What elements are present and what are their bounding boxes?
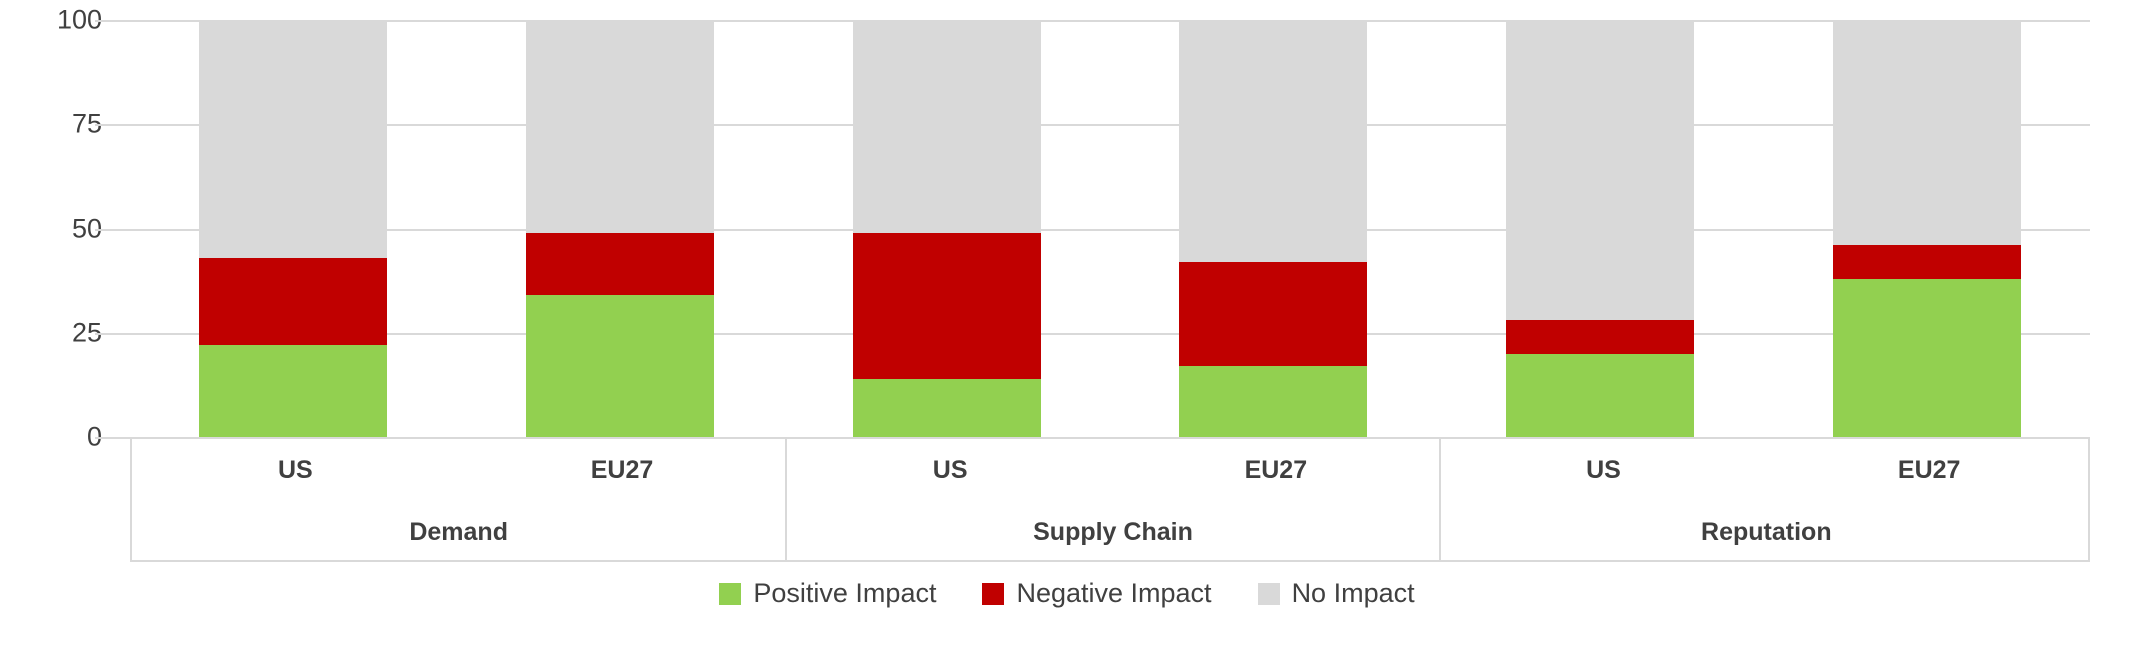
category-sublabel-row: USEU27: [1441, 439, 2092, 501]
bar-column[interactable]: [853, 20, 1041, 437]
x-axis-category-label: EU27: [1766, 439, 2092, 501]
category-group: USEU27Reputation: [1439, 439, 2092, 560]
stacked-bar[interactable]: [199, 20, 387, 437]
legend-swatch-icon: [719, 583, 741, 605]
category-sublabel-row: USEU27: [787, 439, 1438, 501]
x-axis-group-label-row: Reputation: [1441, 501, 2092, 564]
chart-legend: Positive ImpactNegative ImpactNo Impact: [0, 578, 2134, 609]
x-axis-category-label: US: [787, 439, 1113, 501]
stacked-bar[interactable]: [1179, 20, 1367, 437]
bar-segment-no-impact[interactable]: [1179, 20, 1367, 262]
legend-item[interactable]: Negative Impact: [982, 578, 1211, 609]
x-axis-group-label: Demand: [409, 518, 508, 547]
x-axis-group-label-row: Demand: [132, 501, 785, 564]
category-group: USEU27Demand: [132, 439, 785, 560]
bar-segment-positive-impact[interactable]: [1179, 366, 1367, 437]
bar-column[interactable]: [526, 20, 714, 437]
bar-segment-no-impact[interactable]: [1833, 20, 2021, 245]
bar-segment-negative-impact[interactable]: [1179, 262, 1367, 366]
plot-area: [130, 20, 2090, 437]
y-axis-tick-mark: [95, 333, 130, 335]
bar-segment-negative-impact[interactable]: [1833, 245, 2021, 278]
x-axis-category-label: EU27: [459, 439, 786, 501]
bar-column[interactable]: [199, 20, 387, 437]
bar-column[interactable]: [1506, 20, 1694, 437]
legend-item[interactable]: No Impact: [1258, 578, 1415, 609]
bar-segment-negative-impact[interactable]: [853, 233, 1041, 379]
bar-column[interactable]: [1179, 20, 1367, 437]
bar-segment-positive-impact[interactable]: [1506, 354, 1694, 437]
bar-segment-no-impact[interactable]: [853, 20, 1041, 233]
x-axis-group-label: Supply Chain: [1033, 518, 1193, 547]
legend-swatch-icon: [982, 583, 1004, 605]
bar-column[interactable]: [1833, 20, 2021, 437]
stacked-bar[interactable]: [853, 20, 1041, 437]
stacked-bar-chart: 1007550250 USEU27DemandUSEU27Supply Chai…: [0, 0, 2134, 652]
legend-swatch-icon: [1258, 583, 1280, 605]
y-axis-tick-mark: [95, 124, 130, 126]
category-sublabel-row: USEU27: [132, 439, 785, 501]
bar-segment-positive-impact[interactable]: [1833, 279, 2021, 437]
legend-label: Negative Impact: [1016, 578, 1211, 609]
category-group: USEU27Supply Chain: [785, 439, 1438, 560]
bars-layer: [130, 20, 2090, 437]
legend-label: Positive Impact: [753, 578, 936, 609]
legend-label: No Impact: [1292, 578, 1415, 609]
legend-item[interactable]: Positive Impact: [719, 578, 936, 609]
bar-segment-positive-impact[interactable]: [853, 379, 1041, 437]
x-axis-category-label: EU27: [1113, 439, 1439, 501]
x-axis-category-label: US: [1441, 439, 1767, 501]
y-axis-tick-mark: [95, 229, 130, 231]
x-axis-category-label: US: [132, 439, 459, 501]
bar-segment-no-impact[interactable]: [199, 20, 387, 258]
bar-segment-positive-impact[interactable]: [526, 295, 714, 437]
x-axis-group-label-row: Supply Chain: [787, 501, 1438, 564]
bar-segment-positive-impact[interactable]: [199, 345, 387, 437]
stacked-bar[interactable]: [1833, 20, 2021, 437]
bar-segment-no-impact[interactable]: [526, 20, 714, 233]
stacked-bar[interactable]: [526, 20, 714, 437]
bar-segment-negative-impact[interactable]: [199, 258, 387, 346]
x-axis-group-label: Reputation: [1701, 518, 1832, 547]
bar-segment-no-impact[interactable]: [1506, 20, 1694, 320]
stacked-bar[interactable]: [1506, 20, 1694, 437]
category-axis: USEU27DemandUSEU27Supply ChainUSEU27Repu…: [130, 437, 2090, 562]
y-axis-tick-mark: [95, 20, 130, 22]
bar-segment-negative-impact[interactable]: [1506, 320, 1694, 353]
y-axis-tick-mark: [95, 437, 130, 439]
bar-segment-negative-impact[interactable]: [526, 233, 714, 296]
